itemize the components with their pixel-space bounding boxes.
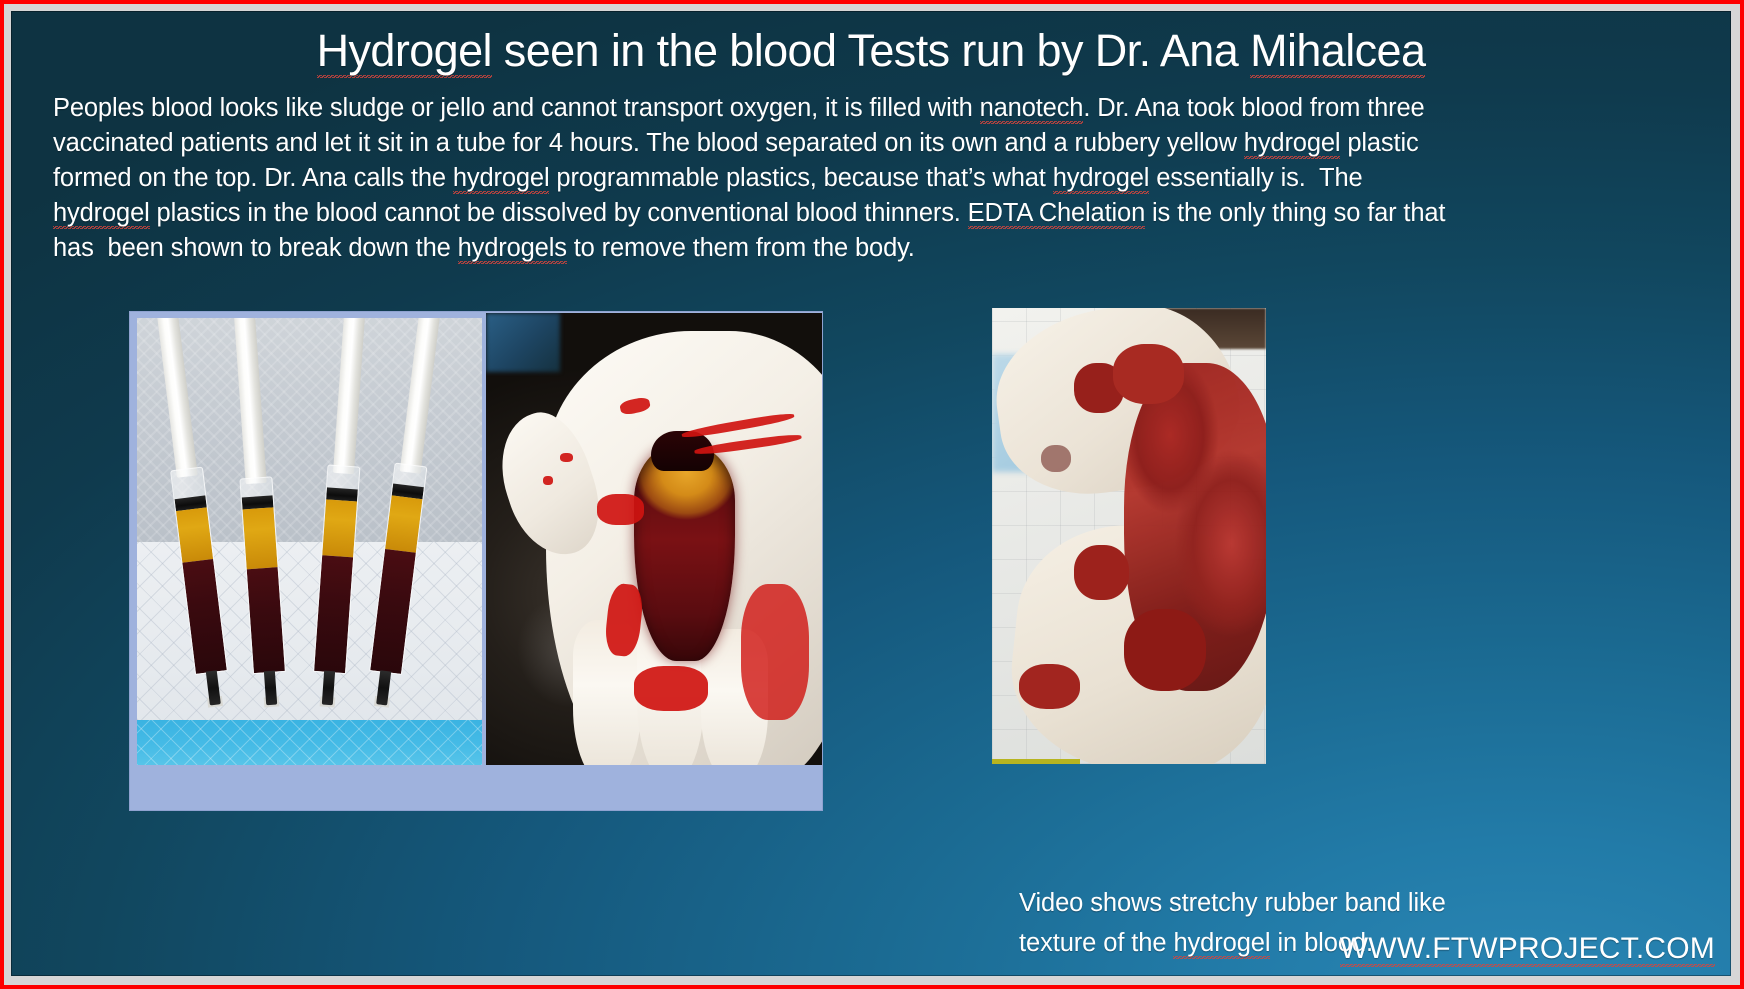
site-url-text: WWW.FTWPROJECT.COM <box>1340 932 1715 968</box>
misspelled-hydrogel-4: hydrogel <box>53 199 150 230</box>
blue-medical-pad <box>137 720 482 765</box>
image-two-bloody-gloved-hands <box>992 308 1266 764</box>
presentation-slide: Hydrogel seen in the blood Tests run by … <box>11 11 1731 976</box>
syringe-tip <box>264 671 277 706</box>
body-paragraph: Peoples blood looks like sludge or jello… <box>53 91 1463 266</box>
title-word-hydrogel: Hydrogel <box>317 25 492 79</box>
misspelled-hydrogel-caption: hydrogel <box>1173 929 1270 960</box>
misspelled-nanotech: nanotech <box>980 94 1084 125</box>
yellow-edge-strip <box>992 759 1080 764</box>
misspelled-hydrogel-2: hydrogel <box>453 164 550 195</box>
slide-inner-border: Hydrogel seen in the blood Tests run by … <box>4 4 1740 985</box>
title-rest: seen in the blood Tests run by Dr. Ana <box>492 25 1250 76</box>
blood-smear <box>634 666 708 711</box>
image-gloved-hand-hydrogel-clot <box>486 313 822 765</box>
misspelled-hydrogels: hydrogels <box>458 234 567 265</box>
red-cell-layer <box>314 555 353 673</box>
caption-line-1: Video shows stretchy rubber band like <box>1019 883 1539 923</box>
site-url[interactable]: WWW.FTWPROJECT.COM <box>1340 932 1715 966</box>
title-word-mihalcea: Mihalcea <box>1250 25 1425 79</box>
blood-stain <box>1124 609 1206 691</box>
blood-stain <box>1074 545 1129 600</box>
hydrogel-clot <box>634 444 735 661</box>
plasma-layer <box>322 499 357 557</box>
blood-smear <box>597 494 644 526</box>
blood-stain <box>1019 664 1079 710</box>
blood-droplet <box>560 453 573 462</box>
plasma-layer <box>243 507 278 569</box>
misspelled-hydrogel-3: hydrogel <box>1053 164 1150 195</box>
plasma-layer <box>385 495 422 552</box>
slide-outer-border: Hydrogel seen in the blood Tests run by … <box>0 0 1744 989</box>
syringe-tip <box>322 671 335 706</box>
image-four-syringes-separated-blood <box>137 318 482 765</box>
page-title: Hydrogel seen in the blood Tests run by … <box>11 25 1731 77</box>
misspelled-hydrogel-1: hydrogel <box>1244 129 1341 160</box>
misspelled-edta-chelation: EDTA Chelation <box>968 199 1145 230</box>
blood-spot <box>1041 445 1071 472</box>
blue-cloth-corner <box>486 313 560 372</box>
plasma-layer <box>176 507 213 562</box>
blood-smear <box>741 584 808 720</box>
blood-droplet <box>543 476 553 485</box>
blood-stain <box>1113 344 1184 403</box>
red-cell-layer <box>247 567 285 673</box>
